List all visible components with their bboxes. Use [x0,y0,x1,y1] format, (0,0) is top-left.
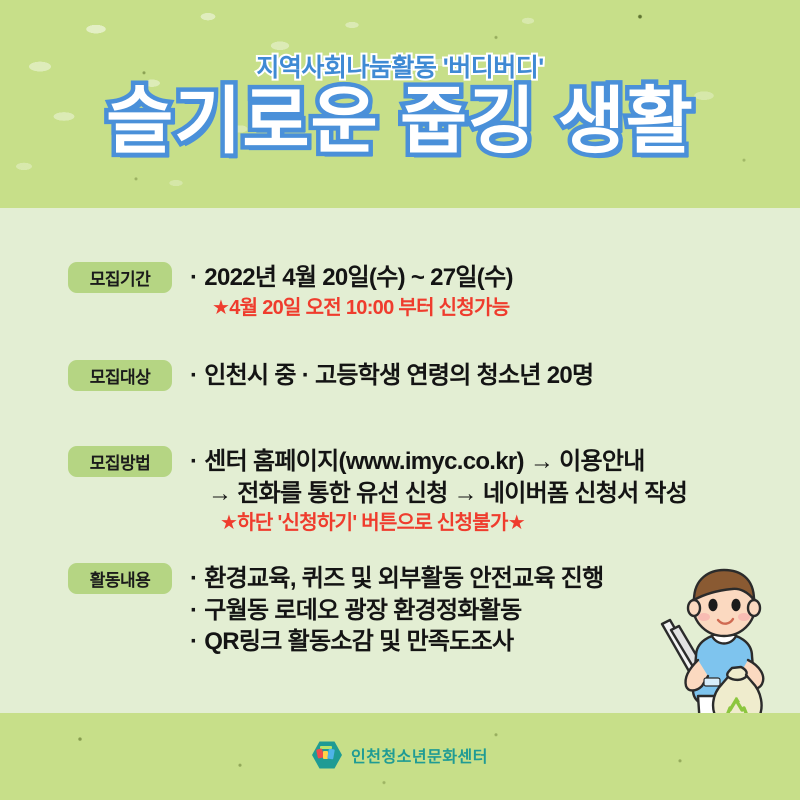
list-item-text: 환경교육, 퀴즈 및 외부활동 안전교육 진행 [204,565,603,592]
poster-title: 슬기로운 줍깅 생활 [0,84,800,161]
list-item: ·센터 홈페이지(www.imyc.co.kr) → 이용안내 [190,446,687,478]
note-text: ★4월 20일 오전 10:00 부터 신청가능 [190,294,513,322]
poster-subtitle: 지역사회나눔활동 '버디버디' [0,48,800,84]
section-row-activities: 활동내용 ·환경교육, 퀴즈 및 외부활동 안전교육 진행 ·구월동 로데오 광… [68,563,604,658]
bullet-dot: · [190,264,197,291]
bullet-dot: · [190,628,197,655]
website-link-text: 센터 홈페이지(www.imyc.co.kr) → 이용안내 [204,448,644,475]
eye-left [708,599,717,611]
bullet-dot: · [190,597,197,624]
section-row-recruit-period: 모집기간 ·2022년 4월 20일(수) ~ 27일(수) ★4월 20일 오… [68,262,513,322]
section-row-target: 모집대상 ·인천시 중 · 고등학생 연령의 청소년 20명 [68,360,593,392]
note-text: ★하단 '신청하기' 버튼으로 신청불가★ [190,509,687,537]
list-item-text: 구월동 로데오 광장 환경정화활동 [204,597,521,624]
section-body-activities: ·환경교육, 퀴즈 및 외부활동 안전교육 진행 ·구월동 로데오 광장 환경정… [190,563,604,658]
list-item: ·구월동 로데오 광장 환경정화활동 [190,595,604,627]
section-label-activities: 활동내용 [68,563,172,594]
list-item: ·인천시 중 · 고등학생 연령의 청소년 20명 [190,360,593,392]
list-item-text: QR링크 활동소감 및 만족도조사 [204,628,513,655]
eye-right [731,599,740,611]
bullet-dot: · [190,362,197,389]
section-row-apply-method: 모집방법 ·센터 홈페이지(www.imyc.co.kr) → 이용안내 → 전… [68,446,687,537]
section-body-target: ·인천시 중 · 고등학생 연령의 청소년 20명 [190,360,593,392]
bullet-dot: · [190,565,197,592]
section-label-target: 모집대상 [68,360,172,391]
organization-logo-icon [312,741,342,769]
footer-band: 인천청소년문화센터 [0,713,800,800]
section-label-apply-method: 모집방법 [68,446,172,477]
list-item-continuation: → 전화를 통한 유선 신청 → 네이버폼 신청서 작성 [190,478,687,510]
list-item: ·2022년 4월 20일(수) ~ 27일(수) [190,262,513,294]
list-item-text: → 전화를 통한 유선 신청 → 네이버폼 신청서 작성 [208,480,687,507]
section-body-apply-method: ·센터 홈페이지(www.imyc.co.kr) → 이용안내 → 전화를 통한… [190,446,687,537]
header-band: 지역사회나눔활동 '버디버디' 슬기로운 줍깅 생활 [0,0,800,208]
bullet-dot: · [190,448,197,475]
list-item: ·QR링크 활동소감 및 만족도조사 [190,626,604,658]
list-item-text: 2022년 4월 20일(수) ~ 27일(수) [204,264,512,291]
organization-name: 인천청소년문화센터 [351,743,488,767]
section-label-recruit-period: 모집기간 [68,262,172,293]
list-item-text: 인천시 중 · 고등학생 연령의 청소년 20명 [204,362,593,389]
section-body-recruit-period: ·2022년 4월 20일(수) ~ 27일(수) ★4월 20일 오전 10:… [190,262,513,322]
poster-root: 지역사회나눔활동 '버디버디' 슬기로운 줍깅 생활 모집기간 ·2022년 4… [0,0,800,800]
list-item: ·환경교육, 퀴즈 및 외부활동 안전교육 진행 [190,563,604,595]
footer-content: 인천청소년문화센터 [0,741,800,769]
